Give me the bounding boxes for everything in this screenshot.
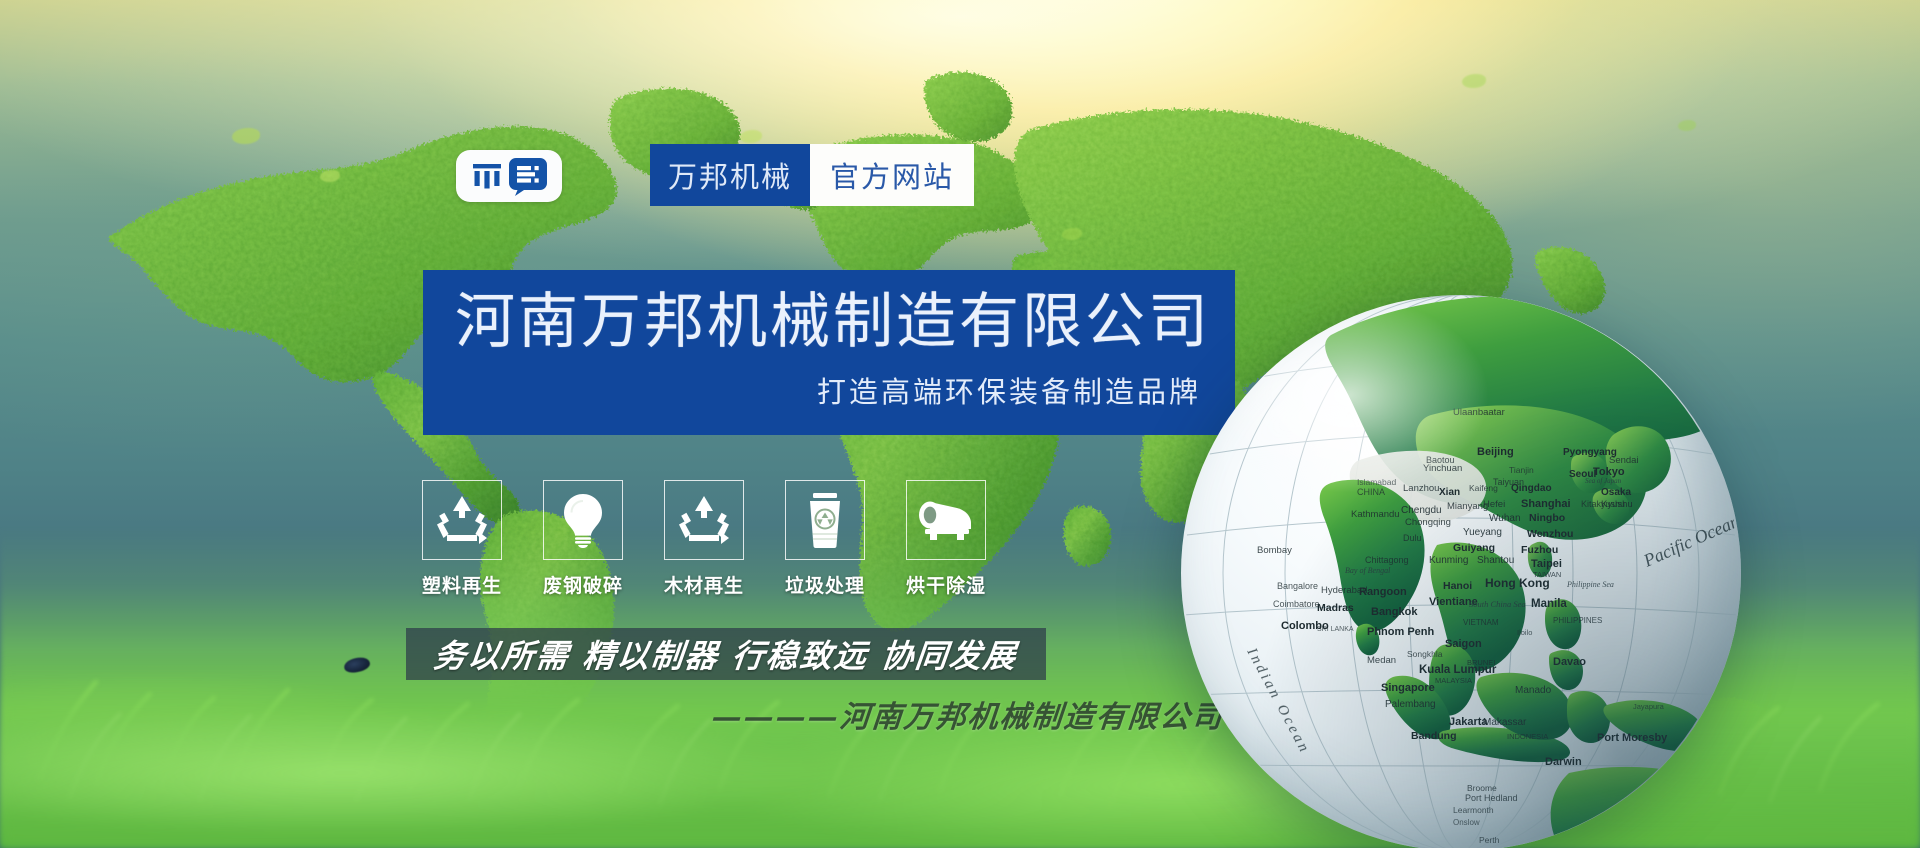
svg-text:Taipei: Taipei — [1531, 558, 1562, 570]
svg-text:Fuzhou: Fuzhou — [1521, 544, 1558, 556]
svg-text:Chengdu: Chengdu — [1401, 505, 1442, 516]
svg-text:PHILIPPINES: PHILIPPINES — [1553, 616, 1602, 625]
svg-text:Phnom Penh: Phnom Penh — [1367, 626, 1435, 638]
svg-text:Wenzhou: Wenzhou — [1527, 528, 1573, 540]
svg-text:MALAYSIA: MALAYSIA — [1435, 676, 1472, 685]
svg-text:Songkhla: Songkhla — [1407, 649, 1443, 659]
svg-text:Learmonth: Learmonth — [1453, 805, 1494, 815]
svg-text:BRUNEI: BRUNEI — [1467, 658, 1495, 667]
svg-text:Singapore: Singapore — [1381, 682, 1435, 694]
site-logo[interactable] — [456, 148, 562, 204]
feature-item-steel-crushing[interactable]: 废钢破碎 — [543, 480, 623, 598]
svg-text:Hefei: Hefei — [1483, 499, 1505, 510]
svg-text:Medan: Medan — [1367, 655, 1396, 666]
logo-w-glyph — [470, 161, 504, 191]
svg-text:Darwin: Darwin — [1545, 756, 1582, 768]
hero-banner: 万邦机械 官方网站 河南万邦机械制造有限公司 打造高端环保装备制造品牌 塑 — [0, 0, 1920, 848]
svg-text:Beijing: Beijing — [1477, 446, 1514, 458]
svg-text:INDONESIA: INDONESIA — [1507, 732, 1548, 741]
svg-text:Guiyang: Guiyang — [1453, 542, 1495, 554]
svg-text:Saigon: Saigon — [1445, 638, 1482, 650]
svg-text:Perth: Perth — [1479, 835, 1500, 845]
slogan-banner: 务以所需 精以制器 行稳致远 协同发展 — [406, 628, 1046, 680]
svg-text:Xian: Xian — [1439, 487, 1460, 498]
svg-text:CHINA: CHINA — [1357, 487, 1385, 497]
svg-text:South China Sea: South China Sea — [1469, 599, 1526, 609]
feature-label: 废钢破碎 — [543, 571, 623, 598]
svg-text:Qingdao: Qingdao — [1511, 483, 1552, 494]
svg-text:Yinchuan: Yinchuan — [1423, 463, 1462, 474]
svg-text:Kaifeng: Kaifeng — [1469, 483, 1498, 493]
svg-text:Chongqing: Chongqing — [1405, 517, 1451, 528]
svg-text:Ulaanbaatar: Ulaanbaatar — [1453, 407, 1505, 418]
svg-text:Broome: Broome — [1467, 783, 1497, 793]
feature-label: 塑料再生 — [422, 571, 502, 598]
svg-text:Davao: Davao — [1553, 656, 1586, 668]
feature-label: 烘干除湿 — [906, 571, 986, 598]
svg-text:VIETNAM: VIETNAM — [1463, 618, 1499, 627]
svg-text:Wuhan: Wuhan — [1489, 513, 1521, 524]
svg-text:Sea of Japan: Sea of Japan — [1585, 477, 1622, 485]
svg-text:Palembang: Palembang — [1385, 699, 1436, 710]
svg-text:Bombay: Bombay — [1257, 545, 1292, 556]
svg-text:Manado: Manado — [1515, 685, 1552, 696]
svg-text:Bay of Bengal: Bay of Bengal — [1345, 566, 1391, 575]
brand-tab-group[interactable]: 万邦机械 官方网站 — [650, 144, 974, 206]
logo-b-bubble-glyph — [508, 156, 548, 196]
svg-text:Osaka: Osaka — [1601, 487, 1631, 498]
wb-logo-icon — [456, 150, 562, 202]
tab-company-name[interactable]: 万邦机械 — [650, 144, 810, 206]
dryer-blower-icon — [906, 480, 986, 560]
svg-text:Indian Ocean: Indian Ocean — [1243, 644, 1313, 757]
svg-text:Iloilo: Iloilo — [1517, 628, 1532, 637]
recycle-icon — [422, 480, 502, 560]
svg-text:Port Hedland: Port Hedland — [1465, 793, 1518, 803]
svg-text:Kunming: Kunming — [1429, 555, 1468, 566]
feature-item-wood-recycling[interactable]: 木材再生 — [664, 480, 744, 598]
svg-text:Manila: Manila — [1531, 598, 1567, 610]
svg-text:SRI LANKA: SRI LANKA — [1317, 626, 1354, 633]
svg-text:Hong Kong: Hong Kong — [1485, 576, 1550, 590]
trash-bin-icon — [785, 480, 865, 560]
svg-text:Bangalore: Bangalore — [1277, 581, 1318, 591]
svg-text:Ningbo: Ningbo — [1529, 512, 1565, 524]
svg-text:Rangoon: Rangoon — [1359, 586, 1407, 598]
svg-text:Port Moresby: Port Moresby — [1597, 732, 1668, 744]
svg-text:Pacific Ocean: Pacific Ocean — [1640, 511, 1741, 571]
globe-sphere: Ulaanbaatar Beijing Baotou Yinchuan Tian… — [1181, 295, 1741, 848]
svg-text:Makassar: Makassar — [1483, 717, 1527, 728]
page-subtitle: 打造高端环保装备制造品牌 — [455, 369, 1201, 411]
svg-text:Chittagong: Chittagong — [1365, 555, 1409, 565]
svg-text:Bandung: Bandung — [1411, 730, 1457, 742]
svg-text:Shantou: Shantou — [1477, 555, 1514, 566]
svg-text:Bangkok: Bangkok — [1371, 606, 1418, 618]
feature-item-waste-treatment[interactable]: 垃圾处理 — [785, 480, 865, 598]
svg-text:Islamabad: Islamabad — [1357, 477, 1396, 487]
svg-text:Lanzhou: Lanzhou — [1403, 483, 1439, 494]
svg-text:Tianjin: Tianjin — [1509, 465, 1534, 475]
svg-text:Philippine Sea: Philippine Sea — [1566, 580, 1614, 589]
svg-text:Onslow: Onslow — [1453, 818, 1480, 827]
svg-text:Madras: Madras — [1317, 602, 1354, 614]
svg-text:Kathmandu: Kathmandu — [1351, 509, 1400, 520]
slogan-signature: ————河南万邦机械制造有限公司 — [710, 692, 1226, 736]
feature-label: 木材再生 — [664, 571, 744, 598]
svg-text:Coimbatore: Coimbatore — [1273, 599, 1320, 609]
svg-text:Shanghai: Shanghai — [1521, 498, 1571, 510]
svg-text:Hanoi: Hanoi — [1443, 580, 1472, 592]
hero-title-panel: 河南万邦机械制造有限公司 打造高端环保装备制造品牌 — [423, 270, 1235, 435]
feature-icon-row: 塑料再生 废钢破碎 — [422, 480, 986, 598]
feature-item-drying-dehumidifying[interactable]: 烘干除湿 — [906, 480, 986, 598]
feature-label: 垃圾处理 — [785, 571, 865, 598]
svg-text:Yueyang: Yueyang — [1463, 527, 1502, 538]
svg-text:Sendai: Sendai — [1609, 455, 1639, 466]
globe-graphic: Ulaanbaatar Beijing Baotou Yinchuan Tian… — [1181, 295, 1741, 848]
svg-text:Kyushu: Kyushu — [1601, 499, 1633, 510]
page-title: 河南万邦机械制造有限公司 — [455, 290, 1201, 355]
svg-text:Jayapura: Jayapura — [1633, 702, 1665, 711]
svg-text:Dulu: Dulu — [1403, 533, 1422, 543]
recycle-icon — [664, 480, 744, 560]
feature-item-plastic-recycling[interactable]: 塑料再生 — [422, 480, 502, 598]
tab-official-site[interactable]: 官方网站 — [810, 144, 974, 206]
lightbulb-icon — [543, 480, 623, 560]
slogan-text: 务以所需 精以制器 行稳致远 协同发展 — [432, 631, 1020, 677]
